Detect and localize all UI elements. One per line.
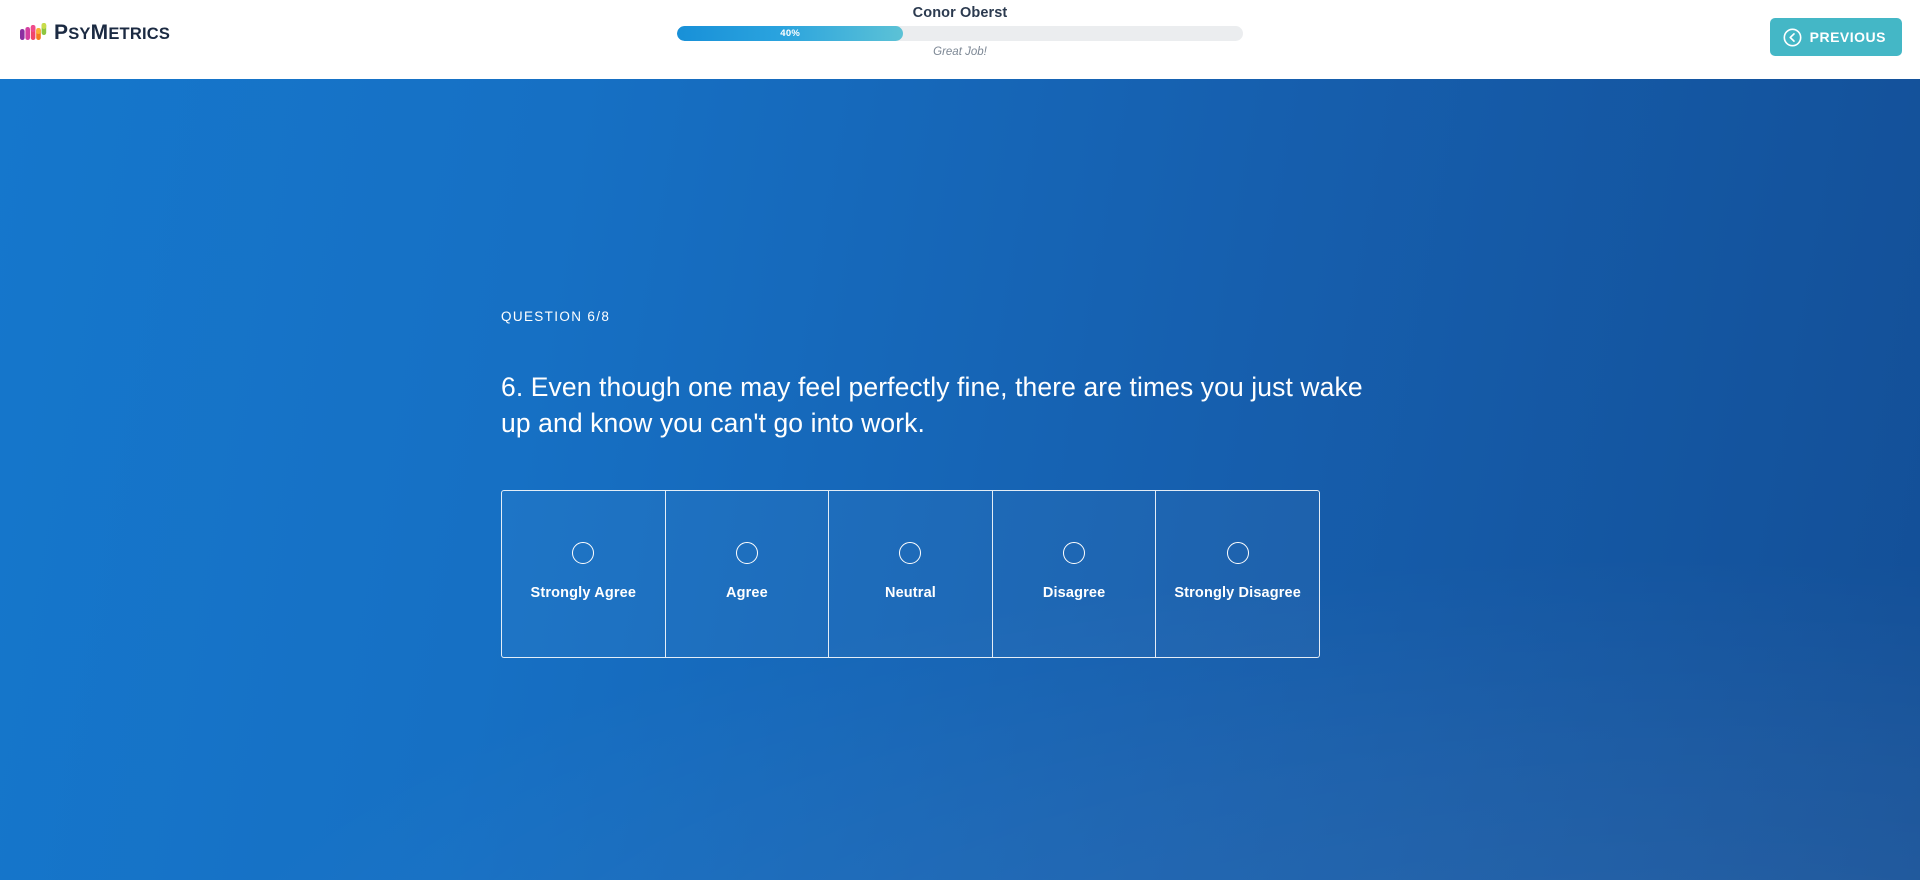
app-header: PSYMETRICS Conor Oberst 40% Great Job! P… (0, 0, 1920, 79)
answer-option-label: Neutral (885, 584, 936, 602)
logo-wordmark: PSYMETRICS (54, 22, 170, 43)
previous-button-label: PREVIOUS (1810, 30, 1886, 44)
encouragement-caption: Great Job! (610, 45, 1310, 59)
answer-option-label: Agree (726, 584, 768, 602)
answer-option-strongly-agree[interactable]: Strongly Agree (502, 491, 666, 657)
answer-option-disagree[interactable]: Disagree (993, 491, 1157, 657)
psymetrics-logo[interactable]: PSYMETRICS (20, 18, 170, 46)
answer-options-group: Strongly Agree Agree Neutral Disagree St… (501, 490, 1320, 658)
header-center-block: Conor Oberst 40% Great Job! (610, 5, 1310, 59)
answer-option-label: Strongly Disagree (1174, 584, 1301, 602)
logo-pills-icon (20, 22, 50, 42)
radio-circle-icon[interactable] (899, 542, 921, 564)
arrow-left-circle-icon (1783, 28, 1802, 47)
answer-option-label: Disagree (1043, 584, 1105, 602)
answer-option-agree[interactable]: Agree (666, 491, 830, 657)
progress-percent-label: 40% (780, 29, 800, 39)
answer-option-neutral[interactable]: Neutral (829, 491, 993, 657)
user-name: Conor Oberst (610, 5, 1310, 21)
progress-bar-track: 40% (677, 26, 1243, 41)
question-content: QUESTION 6/8 6. Even though one may feel… (501, 79, 1601, 658)
previous-button[interactable]: PREVIOUS (1770, 18, 1902, 56)
radio-circle-icon[interactable] (1063, 542, 1085, 564)
assessment-stage: QUESTION 6/8 6. Even though one may feel… (0, 79, 1920, 880)
radio-circle-icon[interactable] (572, 542, 594, 564)
answer-option-label: Strongly Agree (531, 584, 637, 602)
progress-bar-fill: 40% (677, 26, 903, 41)
answer-option-strongly-disagree[interactable]: Strongly Disagree (1156, 491, 1319, 657)
radio-circle-icon[interactable] (1227, 542, 1249, 564)
question-text: 6. Even though one may feel perfectly fi… (501, 369, 1381, 441)
question-index-label: QUESTION 6/8 (501, 308, 1601, 326)
radio-circle-icon[interactable] (736, 542, 758, 564)
